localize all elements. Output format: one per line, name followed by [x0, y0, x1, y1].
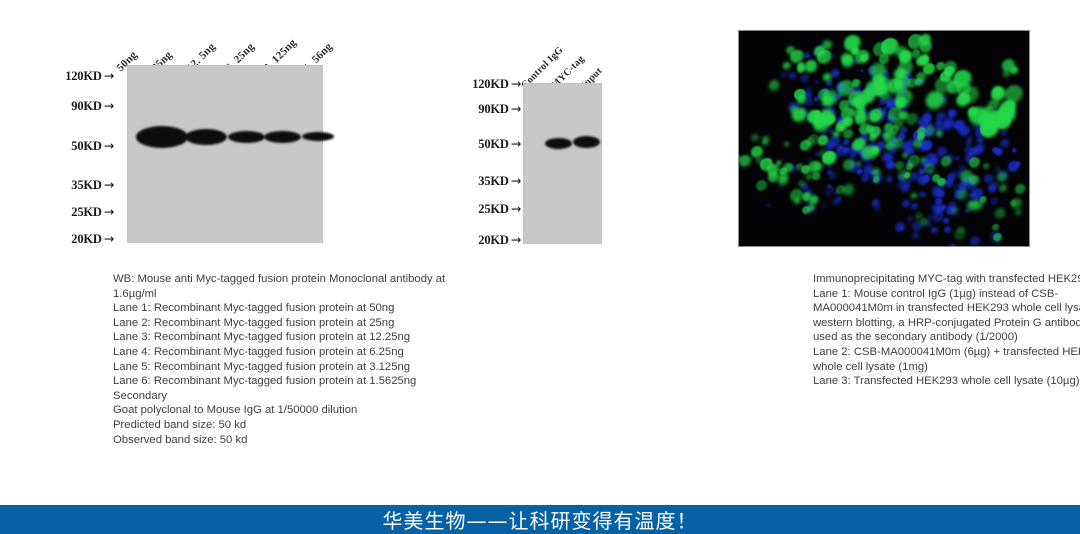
fluorescent-cell-green	[894, 75, 911, 92]
fluorescent-cell-green	[958, 93, 971, 106]
fluorescent-cell-blue	[874, 205, 881, 212]
fluorescent-cell-green	[1005, 85, 1025, 105]
fluorescent-cell-blue	[973, 145, 984, 156]
fluorescent-cell-blue	[931, 227, 939, 235]
fluorescent-cell-green	[790, 50, 805, 65]
ladder-arrow-icon: →	[509, 101, 521, 116]
fluorescent-cell-blue	[902, 200, 911, 209]
ladder-arrow-icon: →	[102, 231, 114, 246]
ladder-arrow-icon: →	[102, 204, 114, 219]
fluorescent-cell-green	[973, 200, 984, 211]
fluorescent-cell-blue	[800, 74, 810, 84]
fluorescent-cell-green	[919, 34, 932, 47]
fluorescent-cell-blue	[964, 146, 973, 155]
fluorescent-cell-green	[954, 229, 966, 241]
fluorescent-cell-blue	[990, 197, 999, 206]
gel-membrane	[127, 65, 323, 243]
panel-immunoprecipitation: 120KD→ 90KD→ 50KD→ 35KD→ 25KD→ 20KD→ Con…	[405, 0, 725, 262]
fluorescent-cell-green	[1015, 209, 1022, 216]
fluorescent-cell-green	[852, 79, 861, 88]
fluorescent-cell-blue	[781, 72, 787, 78]
fluorescent-cell-blue	[822, 204, 826, 208]
fluorescent-cell-blue	[911, 203, 919, 211]
fluorescent-cell-green	[814, 118, 822, 126]
fluorescent-cell-blue	[933, 212, 945, 224]
fluorescent-cell-blue	[943, 120, 954, 131]
fluorescent-cell-green	[960, 170, 974, 184]
fluorescent-cell-green	[786, 164, 793, 171]
fluorescent-cell-blue	[989, 186, 997, 194]
fluorescent-cell-blue	[955, 156, 960, 161]
panel-western-blot: 120KD→ 90KD→ 50KD→ 35KD→ 25KD→ 20KD→ 50n…	[55, 0, 400, 262]
fluorescent-cell-green	[855, 50, 870, 65]
fluorescent-cell-green	[805, 60, 819, 74]
fluorescent-cell-blue	[843, 139, 850, 146]
fluorescent-cell-green	[762, 136, 771, 145]
fluorescent-cell-blue	[831, 69, 841, 79]
fluorescent-cell-blue	[789, 72, 797, 80]
ladder-arrow-icon: →	[509, 136, 521, 151]
fluorescent-cell-green	[911, 193, 918, 200]
fluorescent-cell-green	[920, 218, 929, 227]
panel-immunofluorescence: Immunofluorescence staining of transfect…	[735, 0, 1035, 262]
fluorescent-cell-green	[873, 176, 880, 183]
fluorescent-cell-green	[808, 204, 815, 211]
fluorescent-cell-blue	[959, 126, 970, 137]
fluorescent-cell-green	[936, 130, 943, 137]
fluorescent-cell-green	[899, 111, 909, 121]
ladder-arrow-icon: →	[102, 177, 114, 192]
fluorescent-cell-green	[898, 169, 911, 182]
band-lane-myc-tag	[545, 138, 572, 149]
fluorescent-cell-blue	[857, 169, 863, 175]
fluorescent-cell-green	[968, 108, 977, 117]
fluorescent-cell-green	[941, 156, 952, 167]
fluorescent-cell-green	[898, 60, 914, 76]
fluorescent-cell-green	[1010, 66, 1019, 75]
fluorescent-cell-green	[739, 155, 752, 168]
fluorescent-cell-blue	[970, 236, 981, 247]
fluorescent-cell-blue	[1012, 148, 1017, 153]
ladder-mark-25kd: 25KD→	[52, 204, 114, 220]
fluorescent-cell-green	[902, 152, 909, 159]
fluorescent-cell-green	[983, 106, 994, 117]
fluorescent-cell-green	[1015, 184, 1026, 195]
ladder-arrow-icon: →	[509, 201, 521, 216]
fluorescent-cell-green	[794, 198, 801, 205]
fluorescent-cell-blue	[935, 198, 943, 206]
fluorescent-cell-green	[808, 161, 821, 174]
band-lane-2	[185, 129, 227, 145]
western-blot-figure: 120KD→ 90KD→ 50KD→ 35KD→ 25KD→ 20KD→ 50n…	[55, 0, 400, 262]
fluorescent-cell-green	[997, 172, 1008, 183]
fluorescent-cell-green	[751, 146, 764, 159]
immunoprecipitation-figure: 120KD→ 90KD→ 50KD→ 35KD→ 25KD→ 20KD→ Con…	[405, 0, 725, 262]
fluorescent-cell-blue	[907, 216, 914, 223]
ladder-arrow-icon: →	[102, 68, 114, 83]
immunofluorescence-figure	[735, 0, 1035, 262]
fluorescent-cell-green	[751, 134, 760, 143]
band-lane-3	[228, 131, 265, 143]
fluorescent-cell-blue	[1001, 130, 1007, 136]
fluorescent-cell-green	[926, 91, 946, 111]
fluorescent-cell-blue	[815, 80, 819, 84]
fluorescent-cell-green	[992, 224, 1000, 232]
band-lane-input	[573, 136, 600, 148]
fluorescent-cell-blue	[1008, 161, 1020, 173]
fluorescent-cell-blue	[860, 69, 864, 73]
fluorescent-cell-blue	[886, 176, 893, 183]
fluorescent-cell-green	[991, 87, 1007, 103]
fluorescent-cell-blue	[921, 192, 927, 198]
caption-immunoprecipitation: Immunoprecipitating MYC-tag with transfe…	[813, 272, 1080, 389]
fluorescent-cell-green	[806, 174, 812, 180]
ladder-mark-25kd: 25KD→	[459, 201, 521, 217]
fluorescent-cell-green	[995, 208, 1006, 219]
fluorescent-cell-green	[969, 157, 981, 169]
fluorescent-cell-green	[790, 106, 799, 115]
fluorescent-cell-blue	[948, 244, 958, 247]
fluorescent-cell-green	[983, 163, 990, 170]
ladder-mark-20kd: 20KD→	[459, 232, 521, 248]
ladder-mark-120kd: 120KD→	[52, 68, 114, 84]
fluorescent-cell-blue	[944, 226, 952, 234]
band-lane-4	[264, 131, 301, 143]
fluorescent-cell-green	[769, 80, 781, 92]
fluorescent-cell-blue	[946, 181, 954, 189]
fluorescent-cell-green	[851, 141, 861, 151]
fluorescent-cell-blue	[827, 170, 833, 176]
fluorescent-cell-blue	[930, 204, 936, 210]
fluorescent-cell-green	[835, 123, 845, 133]
fluorescent-cell-green	[993, 233, 1003, 243]
fluorescent-cell-green	[756, 180, 768, 192]
ladder-arrow-icon: →	[509, 173, 521, 188]
fluorescent-cell-green	[784, 141, 791, 148]
fluorescent-cell-blue	[766, 203, 771, 208]
ladder-mark-35kd: 35KD→	[459, 173, 521, 189]
fluorescent-cell-green	[924, 125, 936, 137]
fluorescent-cell-blue	[843, 147, 850, 154]
ladder-mark-20kd: 20KD→	[52, 231, 114, 247]
fluorescent-cell-green	[924, 163, 936, 175]
fluorescent-cell-green	[779, 171, 790, 182]
immunofluorescence-micrograph	[738, 30, 1030, 247]
fluorescent-cell-blue	[923, 175, 931, 183]
fluorescent-cell-green	[920, 157, 927, 164]
ladder-mark-90kd: 90KD→	[52, 98, 114, 114]
ladder-mark-120kd: 120KD→	[459, 76, 521, 92]
fluorescent-cell-green	[798, 180, 806, 188]
fluorescent-cell-blue	[861, 174, 870, 183]
fluorescent-cell-green	[870, 113, 880, 123]
fluorescent-cell-green	[797, 95, 807, 105]
fluorescent-cell-blue	[966, 140, 972, 146]
fluorescent-cell-green	[957, 189, 969, 201]
band-lane-5	[302, 132, 334, 141]
fluorescent-cell-green	[885, 142, 895, 152]
gel-membrane	[523, 83, 602, 244]
fluorescent-cell-blue	[1000, 139, 1010, 149]
fluorescent-cell-blue	[912, 232, 920, 240]
ladder-mark-35kd: 35KD→	[52, 177, 114, 193]
fluorescent-cell-green	[868, 147, 881, 160]
ladder-mark-90kd: 90KD→	[459, 101, 521, 117]
caption-western-blot: WB: Mouse anti Myc-tagged fusion protein…	[113, 272, 448, 447]
footer-banner: 华美生物——让科研变得有温度！	[0, 505, 1080, 534]
fluorescent-cell-green	[951, 207, 960, 216]
fluorescent-cell-green	[814, 46, 826, 58]
fluorescent-cell-green	[999, 184, 1009, 194]
band-lane-1	[136, 126, 188, 148]
ladder-mark-50kd: 50KD→	[459, 136, 521, 152]
fluorescent-cell-blue	[838, 196, 842, 200]
fluorescent-cell-green	[872, 168, 881, 177]
ladder-arrow-icon: →	[509, 232, 521, 247]
fluorescent-cell-blue	[969, 192, 976, 199]
fluorescent-cell-green	[869, 134, 876, 141]
fluorescent-cell-green	[915, 78, 925, 88]
ladder-arrow-icon: →	[102, 98, 114, 113]
footer-banner-text: 华美生物——让科研变得有温度！	[383, 505, 698, 534]
fluorescent-cell-green	[783, 62, 791, 70]
fluorescent-cell-green	[997, 106, 1017, 126]
ladder-arrow-icon: →	[102, 138, 114, 153]
ladder-mark-50kd: 50KD→	[52, 138, 114, 154]
fluorescent-cell-green	[864, 88, 872, 96]
fluorescent-cell-blue	[901, 184, 911, 194]
fluorescent-cell-green	[855, 99, 867, 111]
